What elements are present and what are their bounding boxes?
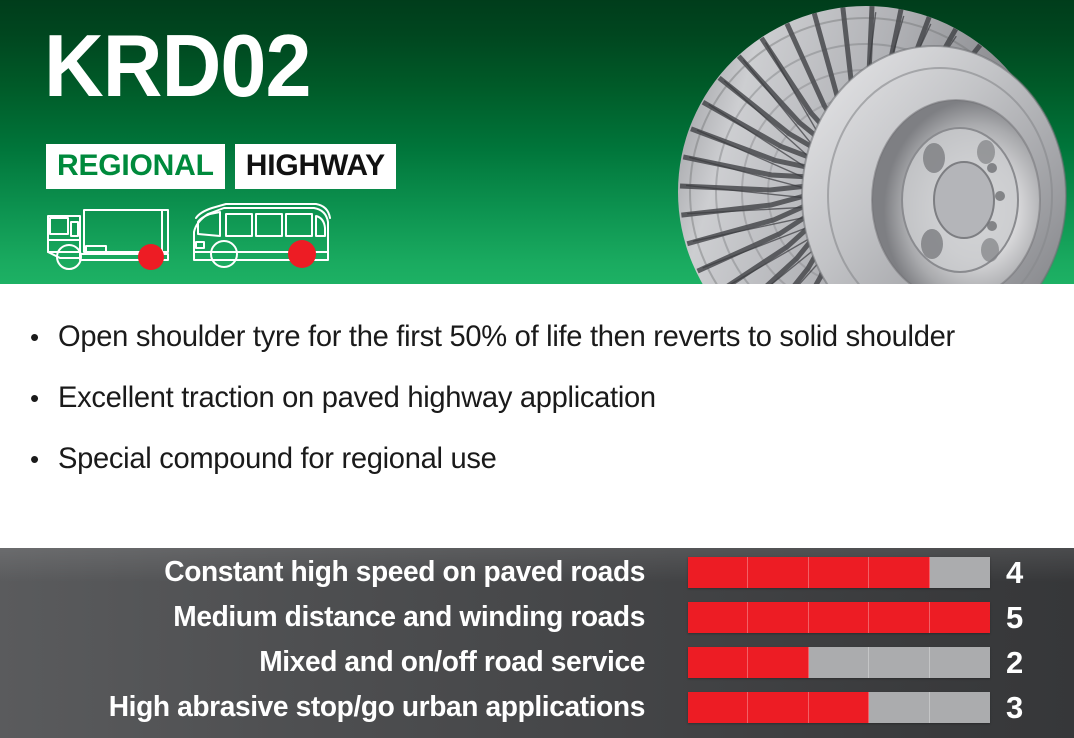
rating-value: 2 [1006,647,1023,678]
rating-row: Mixed and on/off road service 2 [0,642,1074,683]
bullet-glyph: • [0,436,58,482]
bus-drive-axle-marker [288,240,316,268]
rating-segment [869,647,929,678]
rating-segment [688,647,748,678]
badge-highway: HIGHWAY [235,144,396,189]
bus-icon [186,196,336,272]
rating-segment [688,602,748,633]
rating-value: 5 [1006,602,1023,633]
rating-segment [869,692,929,723]
rating-segment [869,557,929,588]
rating-segment [748,557,808,588]
rating-bar [688,692,990,723]
rating-segment [748,647,808,678]
vehicle-applications [38,196,336,272]
rating-segment [809,692,869,723]
rating-bar [688,557,990,588]
rating-row: Medium distance and winding roads 5 [0,597,1074,638]
features-panel: • Open shoulder tyre for the first 50% o… [0,284,1074,548]
tire-photo: KRD 02 RADIAL TUBELESS [634,0,1074,284]
rating-segment [688,557,748,588]
rating-label: Medium distance and winding roads [19,603,645,632]
product-title: KRD02 [44,18,311,114]
feature-item: • Special compound for regional use [0,436,1074,497]
rating-segment [930,557,990,588]
truck-drive-axle-marker [138,244,164,270]
tire-illustration: KRD 02 RADIAL TUBELESS [634,0,1074,284]
rating-label: High abrasive stop/go urban applications [19,693,645,722]
rating-segment [869,602,929,633]
feature-text: Excellent traction on paved highway appl… [58,375,1044,421]
rating-label: Mixed and on/off road service [19,648,645,677]
category-badges: REGIONAL HIGHWAY [46,144,396,189]
rating-segment [930,602,990,633]
rating-row: High abrasive stop/go urban applications… [0,687,1074,728]
rating-segment [809,602,869,633]
header-content: KRD02 REGIONAL HIGHWAY [0,0,680,284]
rating-segment [809,557,869,588]
feature-text: Special compound for regional use [58,436,1044,482]
badge-regional: REGIONAL [46,144,225,189]
product-spec-sheet: KRD 02 RADIAL TUBELESS [0,0,1074,738]
rating-row: Constant high speed on paved roads 4 [0,552,1074,593]
rating-segment [930,647,990,678]
header-banner: KRD 02 RADIAL TUBELESS [0,0,1074,284]
feature-item: • Open shoulder tyre for the first 50% o… [0,314,1074,375]
rating-segment [930,692,990,723]
rating-value: 4 [1006,557,1023,588]
rating-segment [748,692,808,723]
feature-list: • Open shoulder tyre for the first 50% o… [0,284,1074,497]
rating-bar [688,602,990,633]
feature-item: • Excellent traction on paved highway ap… [0,375,1074,436]
rating-segment [688,692,748,723]
truck-icon [38,196,178,272]
bullet-glyph: • [0,375,58,421]
rating-value: 3 [1006,692,1023,723]
rating-bar [688,647,990,678]
rating-segment [809,647,869,678]
bullet-glyph: • [0,314,58,360]
feature-text: Open shoulder tyre for the first 50% of … [58,314,1044,360]
rating-segment [748,602,808,633]
rating-label: Constant high speed on paved roads [19,558,645,587]
application-ratings-panel: Constant high speed on paved roads 4 Med… [0,548,1074,738]
